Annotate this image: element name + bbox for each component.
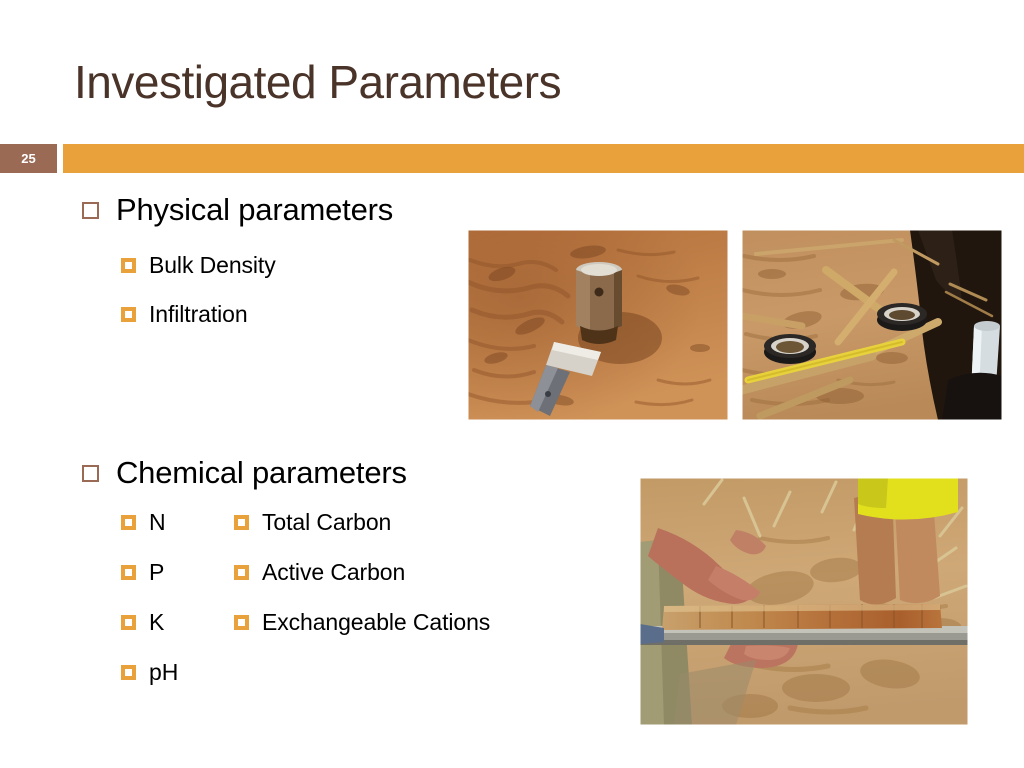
item-exchangeable-cations: Exchangeable Cations xyxy=(262,609,490,636)
square-filled-bullet-icon xyxy=(234,615,249,630)
item-bulk-density: Bulk Density xyxy=(149,252,276,279)
item-p: P xyxy=(149,559,164,586)
soil-core-sampler-photo xyxy=(468,230,728,420)
square-filled-bullet-icon xyxy=(121,665,136,680)
soil-core-sample-photo xyxy=(640,478,968,725)
square-filled-bullet-icon xyxy=(121,615,136,630)
bullet-physical-parameters: Physical parameters xyxy=(82,192,393,228)
bullet-ph: pH xyxy=(121,659,178,686)
bullet-phosphorus: P xyxy=(121,559,164,586)
item-active-carbon: Active Carbon xyxy=(262,559,405,586)
item-n: N xyxy=(149,509,166,536)
bullet-exchangeable-cations: Exchangeable Cations xyxy=(234,609,490,636)
square-outline-bullet-icon xyxy=(82,202,99,219)
infiltration-rings-photo xyxy=(742,230,1002,420)
bullet-active-carbon: Active Carbon xyxy=(234,559,405,586)
item-infiltration: Infiltration xyxy=(149,301,248,328)
bullet-infiltration: Infiltration xyxy=(121,301,248,328)
item-ph: pH xyxy=(149,659,178,686)
slide: Investigated Parameters 25 Physical para… xyxy=(0,0,1024,768)
square-filled-bullet-icon xyxy=(121,307,136,322)
section-heading-physical: Physical parameters xyxy=(116,192,393,228)
bullet-potassium: K xyxy=(121,609,164,636)
item-k: K xyxy=(149,609,164,636)
bullet-nitrogen: N xyxy=(121,509,166,536)
section-heading-chemical: Chemical parameters xyxy=(116,455,407,491)
square-filled-bullet-icon xyxy=(121,565,136,580)
bullet-total-carbon: Total Carbon xyxy=(234,509,391,536)
bullet-chemical-parameters: Chemical parameters xyxy=(82,455,407,491)
square-filled-bullet-icon xyxy=(234,515,249,530)
square-filled-bullet-icon xyxy=(121,258,136,273)
item-total-carbon: Total Carbon xyxy=(262,509,391,536)
bullet-bulk-density: Bulk Density xyxy=(121,252,276,279)
square-outline-bullet-icon xyxy=(82,465,99,482)
square-filled-bullet-icon xyxy=(121,515,136,530)
square-filled-bullet-icon xyxy=(234,565,249,580)
